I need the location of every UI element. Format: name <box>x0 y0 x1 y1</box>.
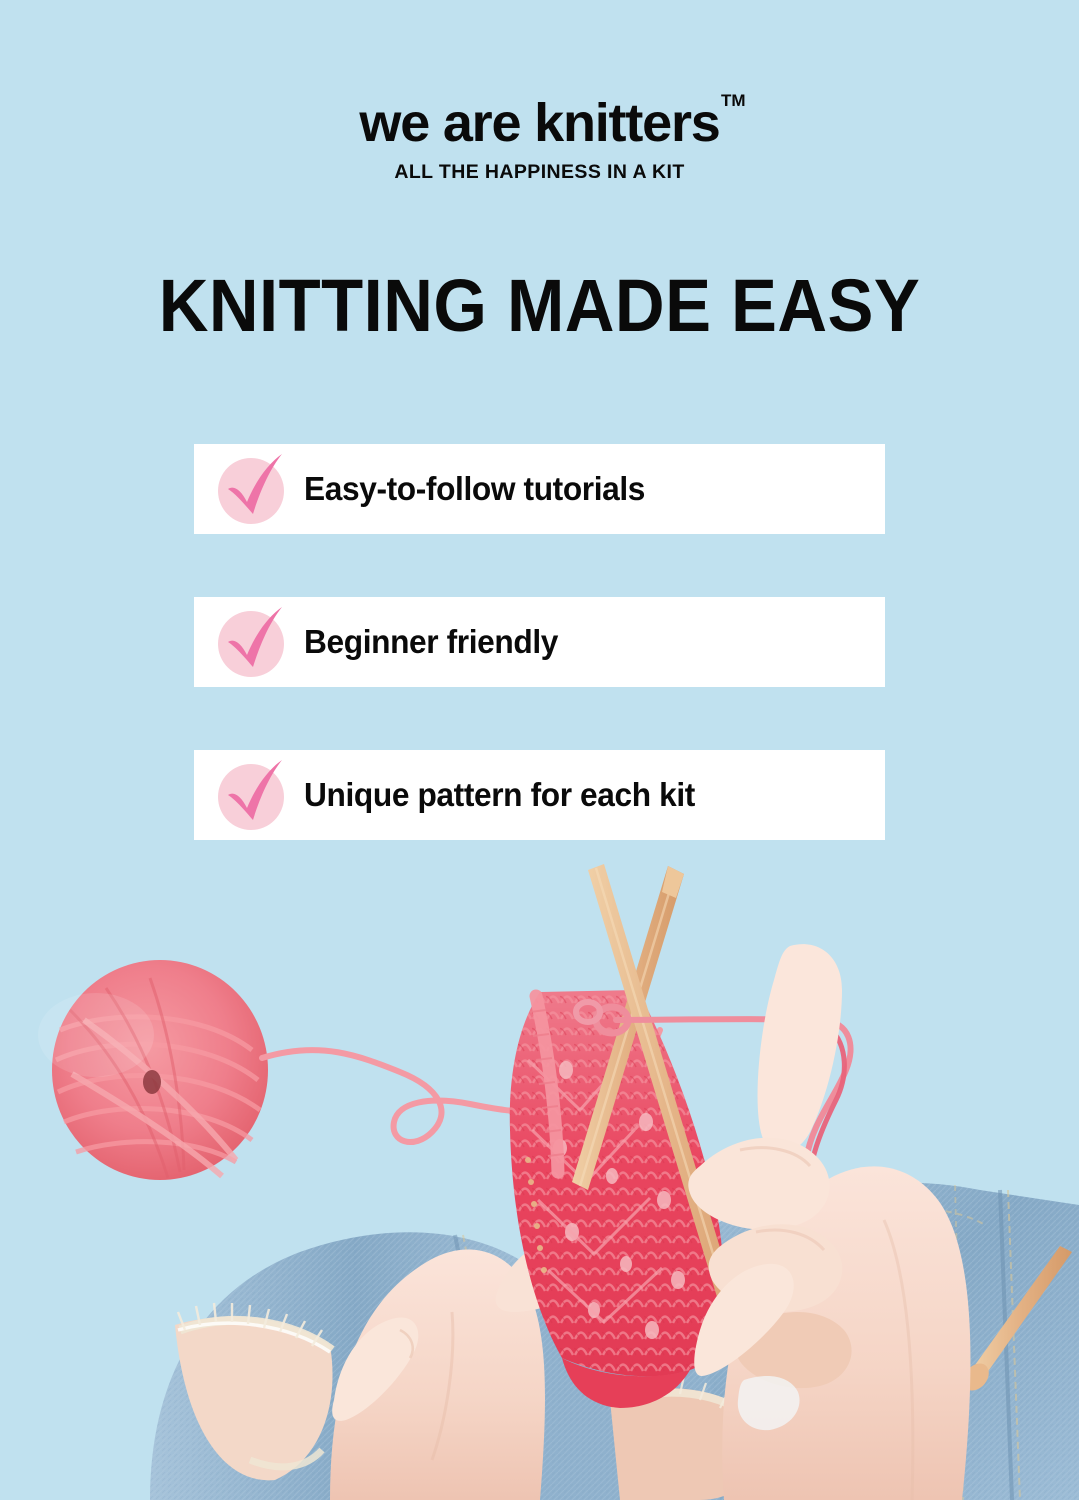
brand-wordmark-text: we are knitters <box>359 93 719 153</box>
feature-card-3: Unique pattern for each kit <box>194 750 885 840</box>
feature-label: Easy-to-follow tutorials <box>304 470 645 508</box>
trademark-symbol: TM <box>721 92 746 109</box>
brand-wordmark: we are knitters TM <box>359 94 719 152</box>
brand-tagline: ALL THE HAPPINESS IN A KIT <box>0 161 1079 184</box>
check-icon <box>214 756 292 834</box>
check-icon <box>214 603 292 681</box>
feature-list: Easy-to-follow tutorials Beginner friend… <box>194 444 885 903</box>
hero-photo <box>0 860 1079 1500</box>
poster: we are knitters TM ALL THE HAPPINESS IN … <box>0 0 1079 1500</box>
feature-label: Unique pattern for each kit <box>304 776 695 814</box>
brand-block: we are knitters TM ALL THE HAPPINESS IN … <box>0 94 1079 184</box>
page-title: KNITTING MADE EASY <box>38 266 1041 346</box>
check-icon <box>214 450 292 528</box>
feature-label: Beginner friendly <box>304 623 558 661</box>
feature-card-2: Beginner friendly <box>194 597 885 687</box>
feature-card-1: Easy-to-follow tutorials <box>194 444 885 534</box>
